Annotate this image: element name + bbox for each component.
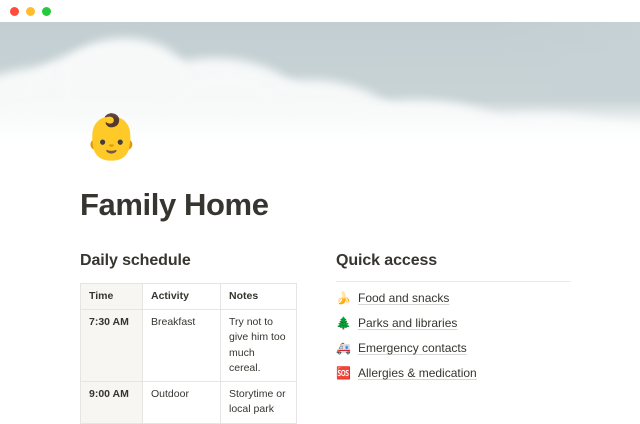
daily-schedule-table-wrapper: Time Activity Notes 7:30 AM Breakfast Tr… xyxy=(80,283,296,424)
cell-notes[interactable]: Storytime or local park xyxy=(221,382,297,423)
page-title: Family Home xyxy=(80,187,560,223)
cell-activity[interactable]: Outdoor xyxy=(143,382,221,423)
list-item[interactable]: 🍌 Food and snacks xyxy=(336,291,572,305)
two-column-layout: Daily schedule Time Activity Notes xyxy=(80,252,560,424)
close-window-button[interactable] xyxy=(10,7,19,16)
daily-schedule-table[interactable]: Time Activity Notes 7:30 AM Breakfast Tr… xyxy=(80,283,297,424)
daily-schedule-heading: Daily schedule xyxy=(80,252,296,270)
ambulance-emoji: 🚑 xyxy=(336,342,350,354)
traffic-light-buttons xyxy=(10,7,51,16)
window-titlebar xyxy=(0,0,640,22)
list-item[interactable]: 🌲 Parks and libraries xyxy=(336,316,572,330)
table-row[interactable]: 7:30 AM Breakfast Try not to give him to… xyxy=(81,310,297,382)
quick-access-heading: Quick access xyxy=(336,252,572,270)
column-header-activity[interactable]: Activity xyxy=(143,284,221,310)
quick-access-link-allergies-and-medication[interactable]: Allergies & medication xyxy=(358,366,477,380)
quick-access-column: Quick access 🍌 Food and snacks 🌲 Parks a… xyxy=(336,252,572,424)
sos-emoji: 🆘 xyxy=(336,367,350,379)
quick-access-list: 🍌 Food and snacks 🌲 Parks and libraries … xyxy=(336,291,572,380)
quick-access-link-food-and-snacks[interactable]: Food and snacks xyxy=(358,291,449,305)
baby-emoji[interactable]: 👶 xyxy=(84,116,139,160)
daily-schedule-column: Daily schedule Time Activity Notes xyxy=(80,252,296,424)
cover-sky-haze xyxy=(490,22,640,96)
quick-access-link-parks-and-libraries[interactable]: Parks and libraries xyxy=(358,316,457,330)
cell-notes[interactable]: Try not to give him too much cereal. xyxy=(221,310,297,382)
maximize-window-button[interactable] xyxy=(42,7,51,16)
list-item[interactable]: 🚑 Emergency contacts xyxy=(336,341,572,355)
list-item[interactable]: 🆘 Allergies & medication xyxy=(336,366,572,380)
minimize-window-button[interactable] xyxy=(26,7,35,16)
page-content: 👶 Family Home Daily schedule Time Activi xyxy=(0,140,640,400)
column-header-time[interactable]: Time xyxy=(81,284,143,310)
cell-time[interactable]: 7:30 AM xyxy=(81,310,143,382)
banana-emoji: 🍌 xyxy=(336,292,350,304)
evergreen-tree-emoji: 🌲 xyxy=(336,317,350,329)
quick-access-link-emergency-contacts[interactable]: Emergency contacts xyxy=(358,341,467,355)
table-row[interactable]: 9:00 AM Outdoor Storytime or local park xyxy=(81,382,297,423)
quick-access-divider xyxy=(336,281,571,282)
column-header-notes[interactable]: Notes xyxy=(221,284,297,310)
cell-activity[interactable]: Breakfast xyxy=(143,310,221,382)
cell-time[interactable]: 9:00 AM xyxy=(81,382,143,423)
table-header-row: Time Activity Notes xyxy=(81,284,297,310)
